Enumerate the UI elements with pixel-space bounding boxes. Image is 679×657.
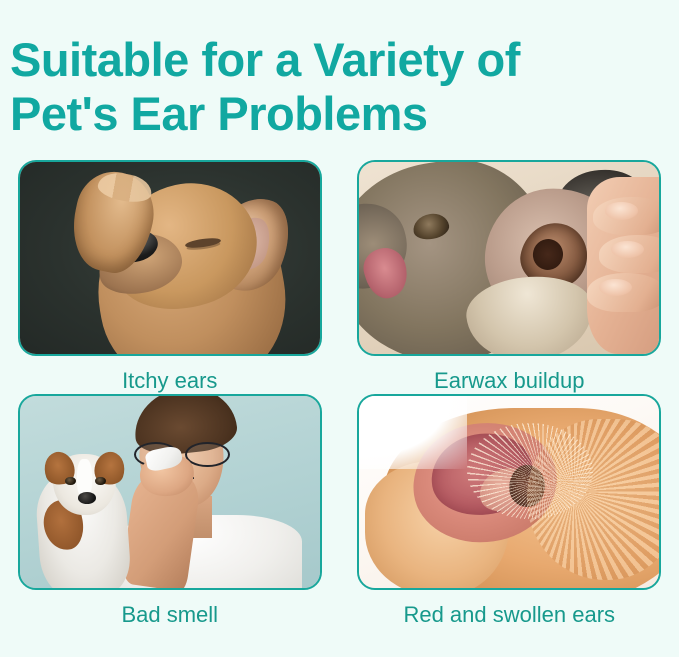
- photo-bad-smell: [20, 396, 320, 588]
- ear-hair-texture: [467, 423, 593, 519]
- terrier-eye-left-shape: [65, 477, 76, 485]
- photo-highlight-corner: [357, 394, 467, 469]
- page-title: Suitable for a Variety of Pet's Ear Prob…: [10, 33, 670, 141]
- card-bad-smell[interactable]: Bad smell: [0, 394, 340, 628]
- card-itchy-ears[interactable]: Itchy ears: [0, 160, 340, 394]
- card-caption-itchy-ears: Itchy ears: [122, 368, 217, 394]
- card-image-frame-red-swollen-ears[interactable]: [357, 394, 661, 590]
- card-image-frame-bad-smell[interactable]: [18, 394, 322, 590]
- card-caption-red-swollen-ears: Red and swollen ears: [403, 602, 615, 628]
- card-row-top: Itchy ears: [0, 160, 679, 394]
- terrier-eye-right-shape: [95, 477, 106, 485]
- card-caption-bad-smell: Bad smell: [121, 602, 218, 628]
- card-earwax-buildup[interactable]: Earwax buildup: [340, 160, 679, 394]
- card-image-frame-itchy-ears[interactable]: [18, 160, 322, 356]
- terrier-nose-shape: [78, 492, 96, 504]
- card-image-frame-earwax-buildup[interactable]: [357, 160, 661, 356]
- card-red-swollen-ears[interactable]: Red and swollen ears: [340, 394, 679, 628]
- photo-earwax-buildup: [359, 162, 659, 354]
- card-caption-earwax-buildup: Earwax buildup: [434, 368, 584, 394]
- fingernail-shape: [611, 241, 644, 258]
- eyeglass-lens-right: [185, 442, 229, 467]
- fingernail-shape: [605, 202, 638, 219]
- problem-card-grid: Itchy ears: [0, 160, 679, 628]
- card-row-bottom: Bad smell Red and swollen ears: [0, 394, 679, 628]
- photo-itchy-ears: [20, 162, 320, 354]
- photo-red-swollen-ears: [359, 396, 659, 588]
